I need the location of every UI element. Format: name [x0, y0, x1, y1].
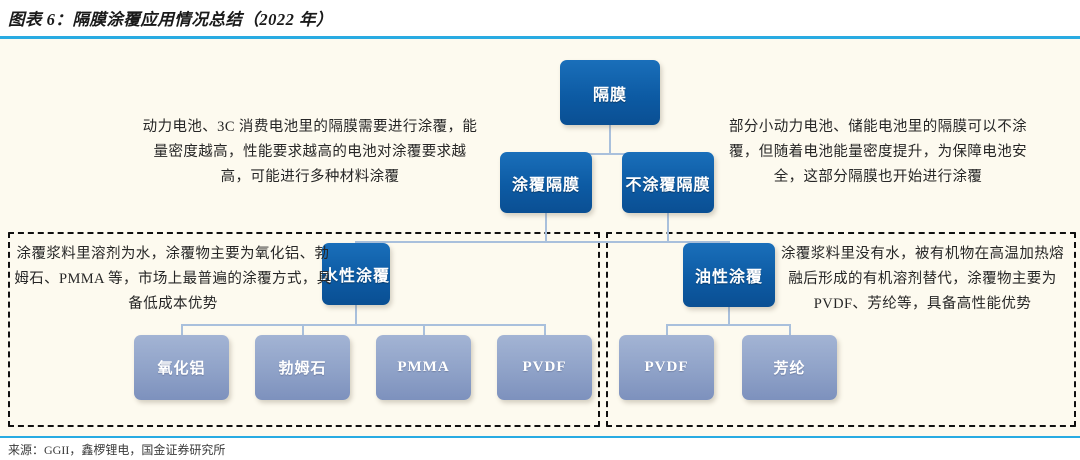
node-alumina[interactable]: 氧化铝	[134, 335, 229, 400]
connector-oil-children-bar	[666, 324, 790, 326]
connector-oil-to-children	[728, 307, 730, 325]
connector-child-boehmite	[302, 324, 304, 335]
node-aramid[interactable]: 芳纶	[742, 335, 837, 400]
footer-rule	[0, 436, 1080, 438]
node-pvdf-water[interactable]: PVDF	[497, 335, 592, 400]
node-coated-separator[interactable]: 涂覆隔膜	[500, 152, 592, 213]
connector-child-pvdf-oil	[666, 324, 668, 335]
connector-water-to-children	[355, 305, 357, 325]
node-boehmite[interactable]: 勃姆石	[255, 335, 350, 400]
connector-root-down	[609, 125, 611, 154]
node-water-coating[interactable]: 水性涂覆	[322, 243, 390, 305]
node-pvdf-oil[interactable]: PVDF	[619, 335, 714, 400]
figure-canvas: 图表 6：隔膜涂覆应用情况总结（2022 年） 隔膜 涂覆隔膜	[0, 0, 1080, 460]
node-pmma[interactable]: PMMA	[376, 335, 471, 400]
connector-child-aramid	[789, 324, 791, 335]
annotation-left-top: 动力电池、3C 消费电池里的隔膜需要进行涂覆，能量密度越高，性能要求越高的电池对…	[140, 115, 480, 190]
connector-level3-bar	[355, 241, 729, 243]
connector-uncoated-down	[667, 213, 669, 243]
connector-water-children-bar	[181, 324, 544, 326]
node-separator-root[interactable]: 隔膜	[560, 60, 660, 125]
connector-child-pmma	[423, 324, 425, 335]
page-title: 图表 6：隔膜涂覆应用情况总结（2022 年）	[8, 6, 333, 30]
annotation-water-group: 涂覆浆料里溶剂为水，涂覆物主要为氧化铝、勃姆石、PMMA 等，市场上最普遍的涂覆…	[14, 242, 332, 317]
connector-child-pvdf-water	[544, 324, 546, 335]
source-note: 来源：GGII，鑫椤锂电，国金证券研究所	[8, 441, 225, 458]
diagram-area: 隔膜 涂覆隔膜 不涂覆隔膜 水性涂覆 油性涂覆 氧化铝 勃姆石 PMMA PVD…	[0, 39, 1080, 436]
annotation-right-top: 部分小动力电池、储能电池里的隔膜可以不涂覆，但随着电池能量密度提升，为保障电池安…	[728, 115, 1028, 190]
node-uncoated-separator[interactable]: 不涂覆隔膜	[622, 152, 714, 213]
annotation-oil-group: 涂覆浆料里没有水，被有机物在高温加热熔融后形成的有机溶剂替代，涂覆物主要为 PV…	[780, 242, 1065, 317]
connector-coated-down	[545, 213, 547, 243]
node-oil-coating[interactable]: 油性涂覆	[683, 243, 775, 307]
connector-child-alumina	[181, 324, 183, 335]
